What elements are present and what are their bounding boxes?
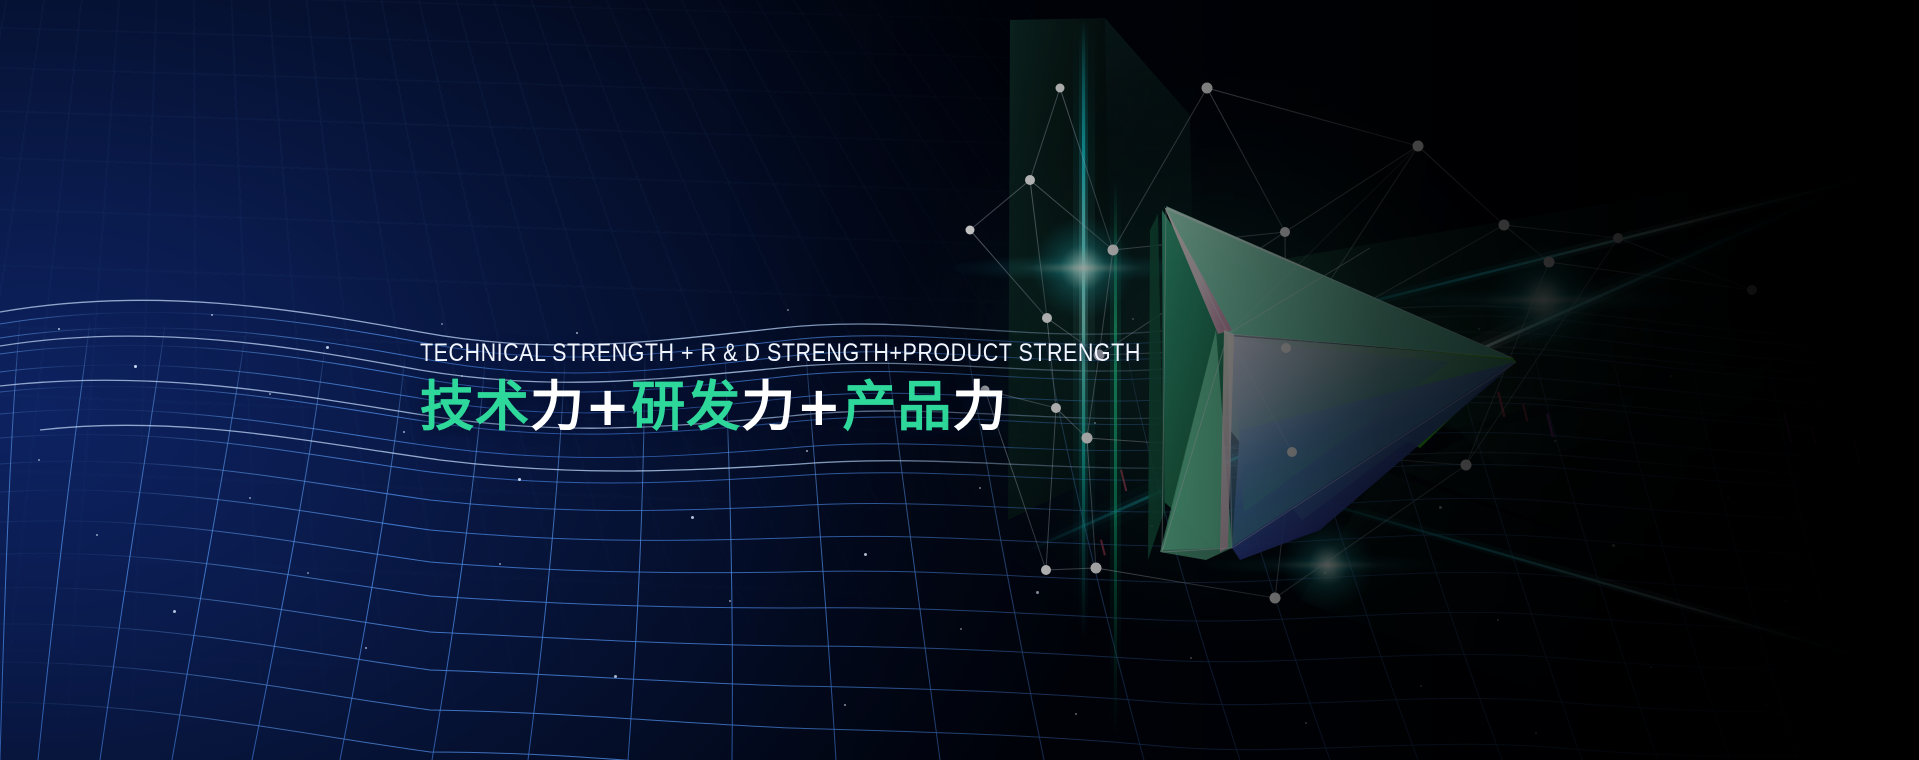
headline-seg-6: +	[796, 375, 842, 438]
headline-seg-1: 技术	[420, 375, 530, 438]
headline-english: TECHNICAL STRENGTH + R & D STRENGTH+PROD…	[420, 340, 1141, 368]
headline-seg-5: 力	[741, 375, 796, 438]
headline-seg-7: 产品	[843, 375, 953, 438]
headline-seg-3: +	[585, 375, 631, 438]
headline-block: TECHNICAL STRENGTH + R & D STRENGTH+PROD…	[420, 340, 1258, 439]
headline-seg-2: 力	[530, 375, 585, 438]
headline-seg-4: 研发	[631, 375, 741, 438]
headline-seg-8: 力	[953, 375, 1008, 438]
hero-banner: TECHNICAL STRENGTH + R & D STRENGTH+PROD…	[0, 0, 1919, 760]
headline-chinese: 技术力+研发力+产品力	[420, 374, 1258, 440]
